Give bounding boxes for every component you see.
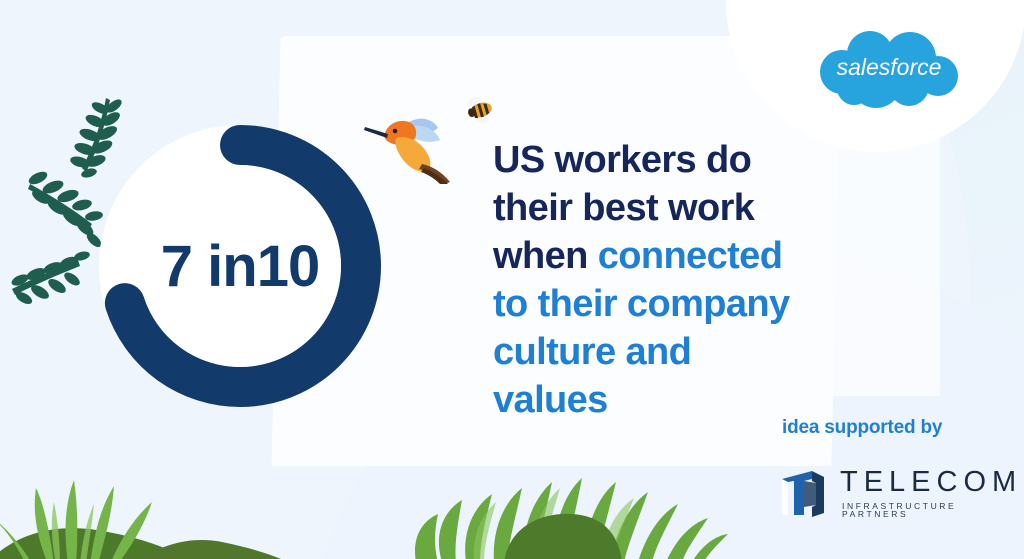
telecom-name: TELECOM: [840, 468, 1022, 497]
bee-icon: [462, 92, 498, 126]
salesforce-wordmark: salesforce: [837, 54, 942, 80]
stat-donut: 7 in10: [86, 112, 394, 420]
headline-line-3-accent: connected: [598, 235, 783, 277]
salesforce-cloud-icon: salesforce: [806, 28, 972, 110]
headline-line-3: when connected: [493, 232, 853, 280]
infographic-canvas: 7 in10 US workers do their best work whe…: [0, 0, 1024, 559]
headline-line-4: to their company: [493, 280, 853, 328]
foliage-icon: [0, 452, 326, 559]
headline-line-5: culture and: [493, 328, 853, 376]
telecom-tagline: INFRASTRUCTURE PARTNERS: [842, 502, 1022, 519]
headline-line-1: US workers do: [493, 136, 853, 184]
stat-value: 7 in10: [86, 112, 394, 420]
telecom-mark-icon: [778, 467, 834, 519]
foliage-icon: [404, 470, 734, 559]
headline: US workers do their best work when conne…: [493, 136, 853, 424]
hummingbird-icon: [362, 104, 462, 186]
telecom-wordmark: TELECOM INFRASTRUCTURE PARTNERS: [840, 468, 1022, 519]
headline-line-3-dark: when: [493, 235, 598, 277]
supported-by-label: idea supported by: [782, 417, 942, 439]
telecom-logo: TELECOM INFRASTRUCTURE PARTNERS: [778, 462, 993, 524]
headline-line-2: their best work: [493, 184, 853, 232]
